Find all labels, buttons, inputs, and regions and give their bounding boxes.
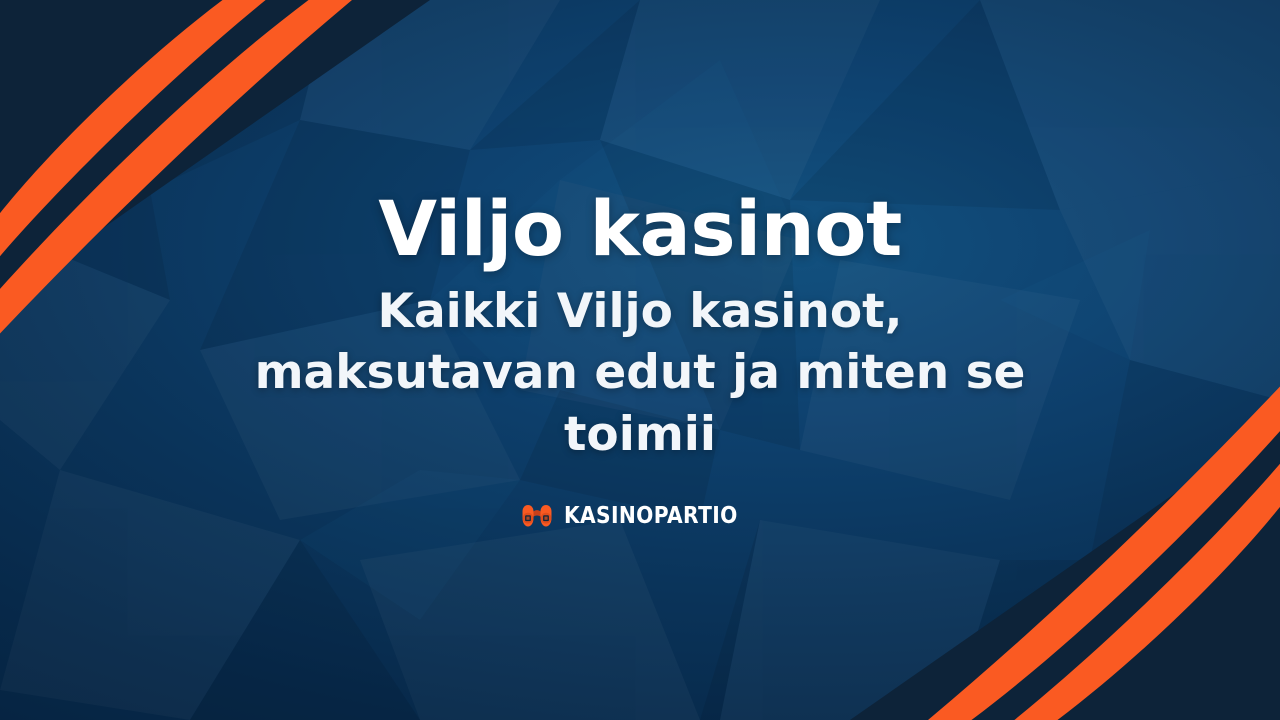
brand-logo[interactable]: KASINOPARTIO: [519, 503, 761, 529]
binoculars-icon: [519, 503, 555, 529]
banner-content: Viljo kasinot Kaikki Viljo kasinot, maks…: [0, 0, 1280, 720]
promo-banner: Viljo kasinot Kaikki Viljo kasinot, maks…: [0, 0, 1280, 720]
page-subtitle: Kaikki Viljo kasinot, maksutavan edut ja…: [230, 281, 1050, 464]
page-title: Viljo kasinot: [378, 191, 902, 267]
brand-wordmark: KASINOPARTIO: [564, 503, 738, 529]
